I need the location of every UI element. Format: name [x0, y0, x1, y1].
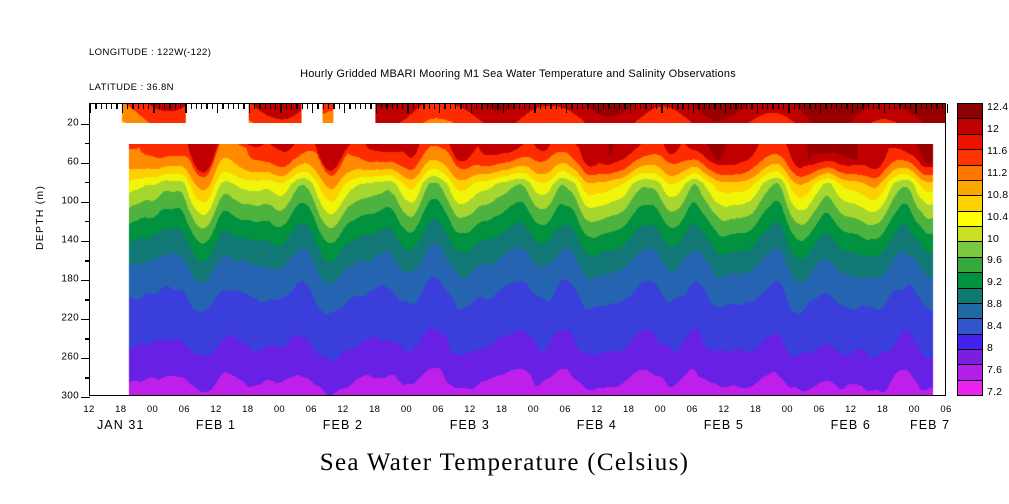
y-axis-ticks [90, 104, 945, 395]
colorbar-band [958, 196, 982, 211]
colorbar-tick-label: 12 [987, 123, 999, 135]
latitude-text: LATITUDE : 36.8N [89, 82, 211, 94]
colorbar-tick-label: 12.4 [987, 101, 1008, 113]
figure-caption: Sea Water Temperature (Celsius) [0, 449, 1009, 477]
x-tick-label: 18 [750, 404, 761, 415]
colorbar-band [958, 135, 982, 150]
x-tick-label: 06 [433, 404, 444, 415]
colorbar-band [958, 150, 982, 165]
colorbar-band [958, 304, 982, 319]
colorbar-tick-label: 10.4 [987, 211, 1008, 223]
x-tick-label: 18 [242, 404, 253, 415]
contour-plot-frame [89, 103, 946, 396]
colorbar-tick-label: 7.6 [987, 364, 1002, 376]
colorbar-tick-label: 9.2 [987, 276, 1002, 288]
y-tick-label: 180 [37, 273, 79, 284]
x-tick-label: 00 [782, 404, 793, 415]
colorbar-tick-label: 9.6 [987, 254, 1002, 266]
colorbar-tick-label: 10.8 [987, 189, 1008, 201]
x-tick-label: 12 [845, 404, 856, 415]
x-tick-label: 18 [496, 404, 507, 415]
x-tick-label: 06 [179, 404, 190, 415]
colorbar-band [958, 335, 982, 350]
x-tick-label: 06 [560, 404, 571, 415]
x-tick-label: 12 [591, 404, 602, 415]
colorbar-tick-label: 7.2 [987, 386, 1002, 398]
x-tick-label: 06 [813, 404, 824, 415]
x-tick-label: 00 [909, 404, 920, 415]
colorbar-band [958, 289, 982, 304]
colorbar-band [958, 181, 982, 196]
x-tick-label: 06 [940, 404, 951, 415]
x-tick-label: 12 [210, 404, 221, 415]
colorbar-band [958, 104, 982, 119]
colorbar-tick-label: 11.6 [987, 145, 1007, 157]
colorbar-band [958, 381, 982, 395]
x-day-label: JAN 31 [97, 418, 145, 432]
x-tick-label: 00 [528, 404, 539, 415]
x-tick-label: 12 [718, 404, 729, 415]
x-tick-label: 06 [306, 404, 317, 415]
x-tick-label: 00 [147, 404, 158, 415]
y-tick-label: 60 [37, 156, 79, 167]
colorbar-tick-label: 11.2 [987, 167, 1007, 179]
colorbar [957, 103, 983, 396]
x-day-label: FEB 1 [196, 418, 236, 432]
colorbar-band [958, 258, 982, 273]
colorbar-band [958, 273, 982, 288]
x-tick-label: 00 [655, 404, 666, 415]
x-day-label: FEB 3 [450, 418, 490, 432]
colorbar-band [958, 350, 982, 365]
colorbar-band [958, 119, 982, 134]
colorbar-band [958, 227, 982, 242]
y-tick-label: 220 [37, 312, 79, 323]
x-tick-label: 00 [401, 404, 412, 415]
colorbar-tick-label: 8.8 [987, 298, 1002, 310]
x-tick-label: 18 [877, 404, 888, 415]
y-tick-label: 300 [37, 391, 79, 402]
y-tick-label: 260 [37, 351, 79, 362]
x-day-label: FEB 7 [910, 418, 950, 432]
x-tick-label: 18 [623, 404, 634, 415]
x-tick-label: 00 [274, 404, 285, 415]
x-day-label: FEB 5 [704, 418, 744, 432]
x-tick-label: 06 [686, 404, 697, 415]
colorbar-tick-label: 8.4 [987, 320, 1002, 332]
colorbar-band [958, 166, 982, 181]
x-day-label: FEB 6 [831, 418, 871, 432]
colorbar-tick-label: 8 [987, 342, 993, 354]
x-tick-label: 12 [464, 404, 475, 415]
y-axis-title: DEPTH (m) [34, 185, 46, 250]
page-title: Hourly Gridded MBARI Mooring M1 Sea Wate… [89, 68, 947, 80]
colorbar-band [958, 212, 982, 227]
x-day-label: FEB 2 [323, 418, 363, 432]
y-tick-label: 20 [37, 117, 79, 128]
colorbar-band [958, 242, 982, 257]
x-tick-label: 18 [369, 404, 380, 415]
x-day-label: FEB 4 [577, 418, 617, 432]
x-tick-label: 12 [337, 404, 348, 415]
x-tick-label: 12 [83, 404, 94, 415]
colorbar-band [958, 365, 982, 380]
colorbar-band [958, 319, 982, 334]
colorbar-tick-label: 10 [987, 233, 999, 245]
x-tick-label: 18 [115, 404, 126, 415]
longitude-text: LONGITUDE : 122W(-122) [89, 47, 211, 59]
